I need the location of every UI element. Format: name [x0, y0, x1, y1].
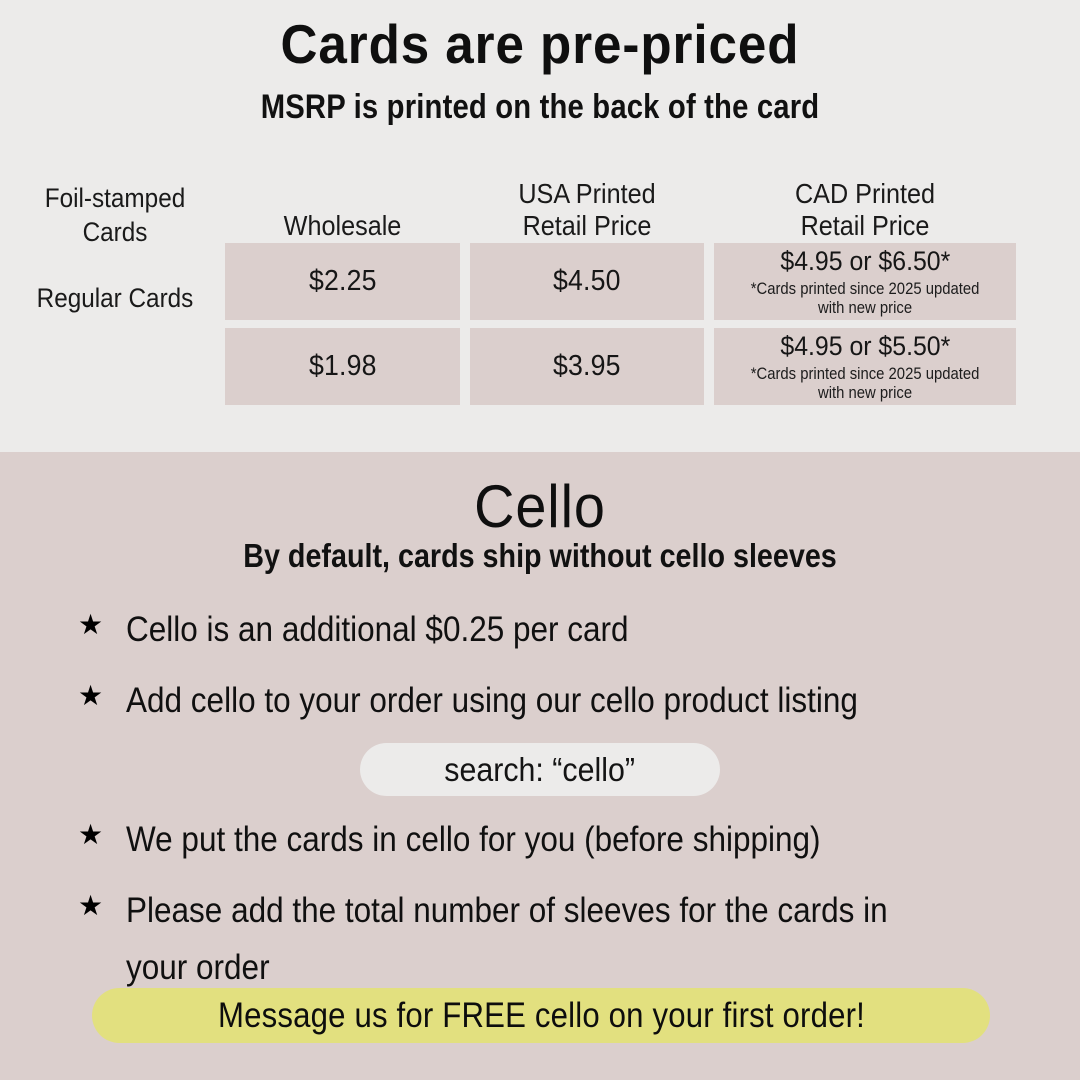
cell-gap: [704, 328, 714, 405]
cell-footnote-line2: with new price: [751, 299, 980, 318]
list-item-label: Cello is an additional $0.25 per card: [126, 602, 929, 659]
cell-value: $1.98: [309, 350, 377, 383]
star-icon: ★: [78, 812, 126, 849]
cello-subtitle: By default, cards ship without cello sle…: [70, 537, 1010, 575]
column-header-usa-line1: USA Printed: [482, 178, 693, 209]
column-header-usa: USA Printed Retail Price: [482, 178, 693, 243]
list-item-label: Add cello to your order using our cello …: [126, 673, 929, 730]
cell-gap: [460, 328, 470, 405]
row-header-regular: Regular Cards: [21, 282, 210, 316]
cell-value: $4.95 or $6.50*: [780, 247, 950, 277]
search-hint-pill[interactable]: search: “cello”: [360, 743, 720, 796]
cell-value: $4.95 or $5.50*: [780, 332, 950, 362]
infographic-page: Cards are pre-priced MSRP is printed on …: [0, 0, 1080, 1080]
cell-regular-usa-retail: $3.95: [470, 328, 704, 405]
cta-banner-label: Message us for FREE cello on your first …: [217, 996, 864, 1036]
cell-gap: [460, 243, 470, 320]
cello-bullet-list: ★ Cello is an additional $0.25 per card …: [78, 602, 1018, 1010]
page-subtitle: MSRP is printed on the back of the card: [76, 88, 1005, 127]
table-row: Regular Cards $1.98 $3.95 $4.95 or $5.50…: [225, 328, 1016, 405]
page-title: Cards are pre-priced: [38, 12, 1042, 76]
list-item-label: Please add the total number of sleeves f…: [126, 883, 929, 996]
list-item-label: We put the cards in cello for you (befor…: [126, 812, 929, 869]
cell-regular-wholesale: $1.98: [225, 328, 460, 405]
cell-value: $3.95: [553, 350, 621, 383]
pricing-section: Cards are pre-priced MSRP is printed on …: [0, 0, 1080, 452]
star-icon: ★: [78, 602, 126, 639]
search-hint-label: search: “cello”: [445, 751, 636, 789]
cell-footnote-line1: *Cards printed since 2025 updated: [751, 365, 980, 384]
column-header-wholesale-label: Wholesale: [237, 210, 449, 241]
row-header-foil-stamped-line2: Cards: [21, 216, 210, 250]
cell-footnote: *Cards printed since 2025 updated with n…: [751, 365, 980, 403]
list-item: ★ We put the cards in cello for you (bef…: [78, 812, 1018, 869]
cell-foil-usa-retail: $4.50: [470, 243, 704, 320]
cell-value: $2.25: [309, 265, 377, 298]
cell-footnote: *Cards printed since 2025 updated with n…: [751, 280, 980, 318]
cell-regular-cad-retail: $4.95 or $5.50* *Cards printed since 202…: [714, 328, 1016, 405]
cello-title: Cello: [38, 472, 1042, 541]
row-header-foil-stamped: Foil-stamped Cards: [21, 182, 210, 250]
star-icon: ★: [78, 673, 126, 710]
cello-section: Cello By default, cards ship without cel…: [0, 452, 1080, 1080]
column-header-wholesale: Wholesale: [237, 210, 449, 243]
pricing-table: Wholesale USA Printed Retail Price CAD P…: [225, 170, 1016, 413]
column-header-cad-line2: Retail Price: [729, 210, 1001, 241]
cell-foil-cad-retail: $4.95 or $6.50* *Cards printed since 202…: [714, 243, 1016, 320]
column-header-cad: CAD Printed Retail Price: [729, 178, 1001, 243]
table-row: Foil-stamped Cards $2.25 $4.50 $4.95 or …: [225, 243, 1016, 320]
star-icon: ★: [78, 883, 126, 920]
cta-banner[interactable]: Message us for FREE cello on your first …: [92, 988, 990, 1043]
cell-footnote-line2: with new price: [751, 384, 980, 403]
column-header-cad-line1: CAD Printed: [729, 178, 1001, 209]
table-column-headers: Wholesale USA Printed Retail Price CAD P…: [225, 170, 1016, 243]
cell-foil-wholesale: $2.25: [225, 243, 460, 320]
row-header-regular-line1: Regular Cards: [21, 282, 210, 316]
row-header-foil-stamped-line1: Foil-stamped: [21, 182, 210, 216]
column-header-usa-line2: Retail Price: [482, 210, 693, 241]
cell-value: $4.50: [553, 265, 621, 298]
cell-footnote-line1: *Cards printed since 2025 updated: [751, 280, 980, 299]
list-item: ★ Add cello to your order using our cell…: [78, 673, 1018, 730]
list-item: ★ Please add the total number of sleeves…: [78, 883, 1018, 996]
list-item: ★ Cello is an additional $0.25 per card: [78, 602, 1018, 659]
cell-gap: [704, 243, 714, 320]
